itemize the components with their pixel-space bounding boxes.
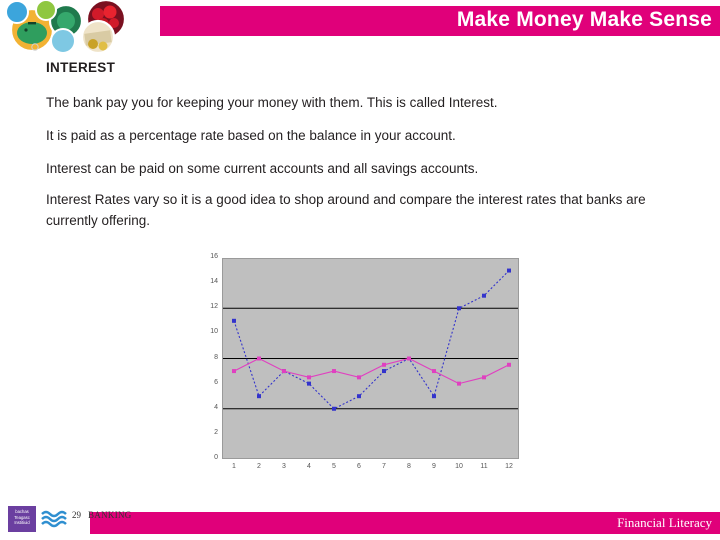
body-paragraph-4: Interest Rates vary so it is a good idea… <box>46 189 646 231</box>
footer-section-label: BANKING <box>88 510 132 520</box>
chart-data-point <box>507 363 511 367</box>
chart-x-tick-label: 9 <box>426 463 442 470</box>
chart-y-tick-label: 10 <box>198 328 218 335</box>
chart-data-point <box>382 369 386 373</box>
footer-brand-label: Financial Literacy <box>617 515 712 531</box>
chart-x-tick-label: 6 <box>351 463 367 470</box>
chart-data-point <box>382 363 386 367</box>
chart-data-point <box>232 369 236 373</box>
bubbles-logo-svg <box>2 0 162 54</box>
chart-y-tick-label: 0 <box>198 454 218 461</box>
chart-data-point <box>232 319 236 323</box>
chart-x-tick-label: 2 <box>251 463 267 470</box>
chart-data-point <box>482 294 486 298</box>
chart-data-point <box>432 369 436 373</box>
chart-y-tick-label: 2 <box>198 429 218 436</box>
chart-svg <box>196 252 526 477</box>
chart-data-point <box>307 375 311 379</box>
wave-logo-svg <box>40 506 70 532</box>
chart-x-tick-label: 1 <box>226 463 242 470</box>
chart-data-point <box>282 369 286 373</box>
chart-series-line <box>234 271 509 409</box>
chart-x-tick-label: 8 <box>401 463 417 470</box>
chart-x-tick-label: 7 <box>376 463 392 470</box>
header-title: Make Money Make Sense <box>457 8 712 32</box>
body-paragraph-1: The bank pay you for keeping your money … <box>46 92 646 113</box>
chart-y-tick-label: 4 <box>198 404 218 411</box>
chart-x-tick-label: 12 <box>501 463 517 470</box>
chart-y-tick-label: 16 <box>198 253 218 260</box>
wave-logo <box>40 506 70 532</box>
chart-data-point <box>357 375 361 379</box>
money-make-sense-bubbles-logo <box>2 0 162 54</box>
chart-y-tick-label: 6 <box>198 379 218 386</box>
chart-data-point <box>332 369 336 373</box>
chart-x-tick-label: 3 <box>276 463 292 470</box>
chart-x-tick-label: 5 <box>326 463 342 470</box>
chart-data-point <box>257 357 261 361</box>
body-paragraph-2: It is paid as a percentage rate based on… <box>46 125 646 146</box>
footer-page-number: 29 <box>72 510 81 520</box>
chart-data-point <box>507 269 511 273</box>
chart-data-point <box>357 394 361 398</box>
body-paragraph-3: Interest can be paid on some current acc… <box>46 158 646 179</box>
chart-x-tick-label: 4 <box>301 463 317 470</box>
chart-data-point <box>432 394 436 398</box>
chart-y-tick-label: 8 <box>198 354 218 361</box>
chart-data-point <box>307 382 311 386</box>
chart-data-point <box>257 394 261 398</box>
page-title: INTEREST <box>46 60 115 75</box>
interest-rates-line-chart: 0246810121416 123456789101112 <box>196 252 526 477</box>
chart-data-point <box>457 306 461 310</box>
chart-x-tick-label: 11 <box>476 463 492 470</box>
chart-x-tick-label: 10 <box>451 463 467 470</box>
chart-y-tick-label: 14 <box>198 278 218 285</box>
chart-y-tick-label: 12 <box>198 303 218 310</box>
chart-data-point <box>482 375 486 379</box>
chart-data-point <box>457 382 461 386</box>
chart-series-line <box>234 359 509 384</box>
chart-data-point <box>332 407 336 411</box>
chart-data-point <box>407 357 411 361</box>
institute-logo: bachas Teagasc Institiuid <box>8 506 36 532</box>
